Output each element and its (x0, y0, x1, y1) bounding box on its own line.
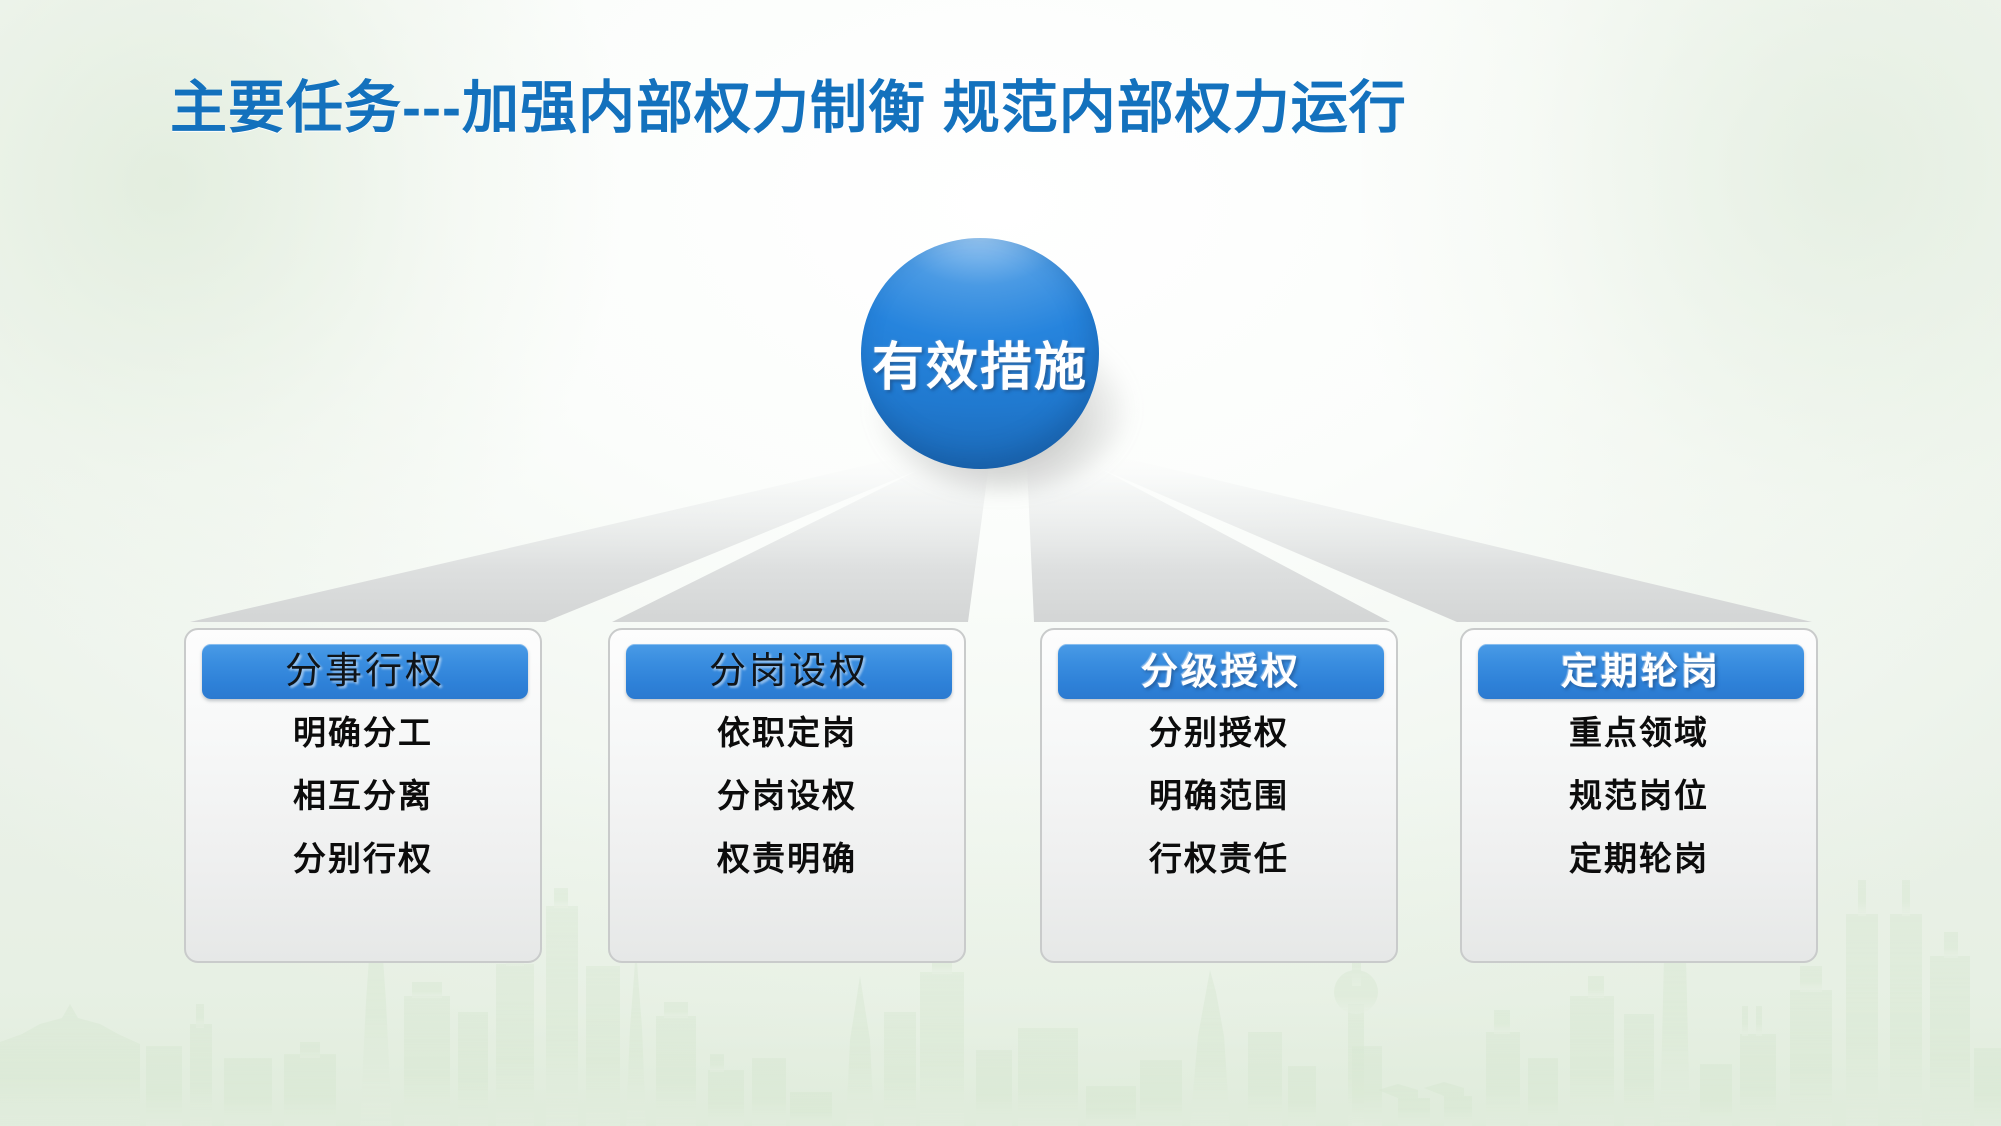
card-2-header-label: 分岗设权 (709, 653, 869, 690)
card-2-header: 分岗设权 (626, 644, 952, 699)
card-3-body: 分别授权 明确范围 行权责任 (1042, 714, 1396, 905)
card-2-item-1: 依职定岗 (610, 716, 964, 749)
card-4-body: 重点领域 规范岗位 定期轮岗 (1462, 714, 1816, 905)
card-4-item-3: 定期轮岗 (1462, 842, 1816, 875)
card-3-header: 分级授权 (1058, 644, 1384, 699)
card-3-item-1: 分别授权 (1042, 716, 1396, 749)
card-4-item-2: 规范岗位 (1462, 779, 1816, 812)
measure-card-4[interactable]: 定期轮岗 重点领域 规范岗位 定期轮岗 (1460, 628, 1818, 963)
card-1-item-3: 分别行权 (186, 842, 540, 875)
measure-card-2[interactable]: 分岗设权 依职定岗 分岗设权 权责明确 (608, 628, 966, 963)
card-2-body: 依职定岗 分岗设权 权责明确 (610, 714, 964, 905)
card-4-header: 定期轮岗 (1478, 644, 1804, 699)
card-3-header-label: 分级授权 (1141, 653, 1301, 690)
card-4-item-1: 重点领域 (1462, 716, 1816, 749)
card-1-item-1: 明确分工 (186, 716, 540, 749)
card-1-body: 明确分工 相互分离 分别行权 (186, 714, 540, 905)
card-1-header: 分事行权 (202, 644, 528, 699)
slide-canvas: 主要任务---加强内部权力制衡 规范内部权力运行 (0, 0, 2001, 1126)
measure-cards: 分事行权 明确分工 相互分离 分别行权 分岗设权 依职定岗 分岗设权 权责明确 … (0, 628, 2001, 968)
card-1-header-label: 分事行权 (285, 653, 445, 690)
slide-title: 主要任务---加强内部权力制衡 规范内部权力运行 (170, 62, 1407, 144)
card-3-item-2: 明确范围 (1042, 779, 1396, 812)
card-1-item-2: 相互分离 (186, 779, 540, 812)
sphere-body: 有效措施 (861, 238, 1099, 469)
card-4-header-label: 定期轮岗 (1561, 653, 1721, 690)
center-node[interactable]: 有效措施 (861, 238, 1143, 500)
background-tint-right (1361, 0, 2001, 660)
center-node-label: 有效措施 (872, 325, 1088, 400)
card-2-item-2: 分岗设权 (610, 779, 964, 812)
measure-card-3[interactable]: 分级授权 分别授权 明确范围 行权责任 (1040, 628, 1398, 963)
measure-card-1[interactable]: 分事行权 明确分工 相互分离 分别行权 (184, 628, 542, 963)
card-2-item-3: 权责明确 (610, 842, 964, 875)
card-3-item-3: 行权责任 (1042, 842, 1396, 875)
